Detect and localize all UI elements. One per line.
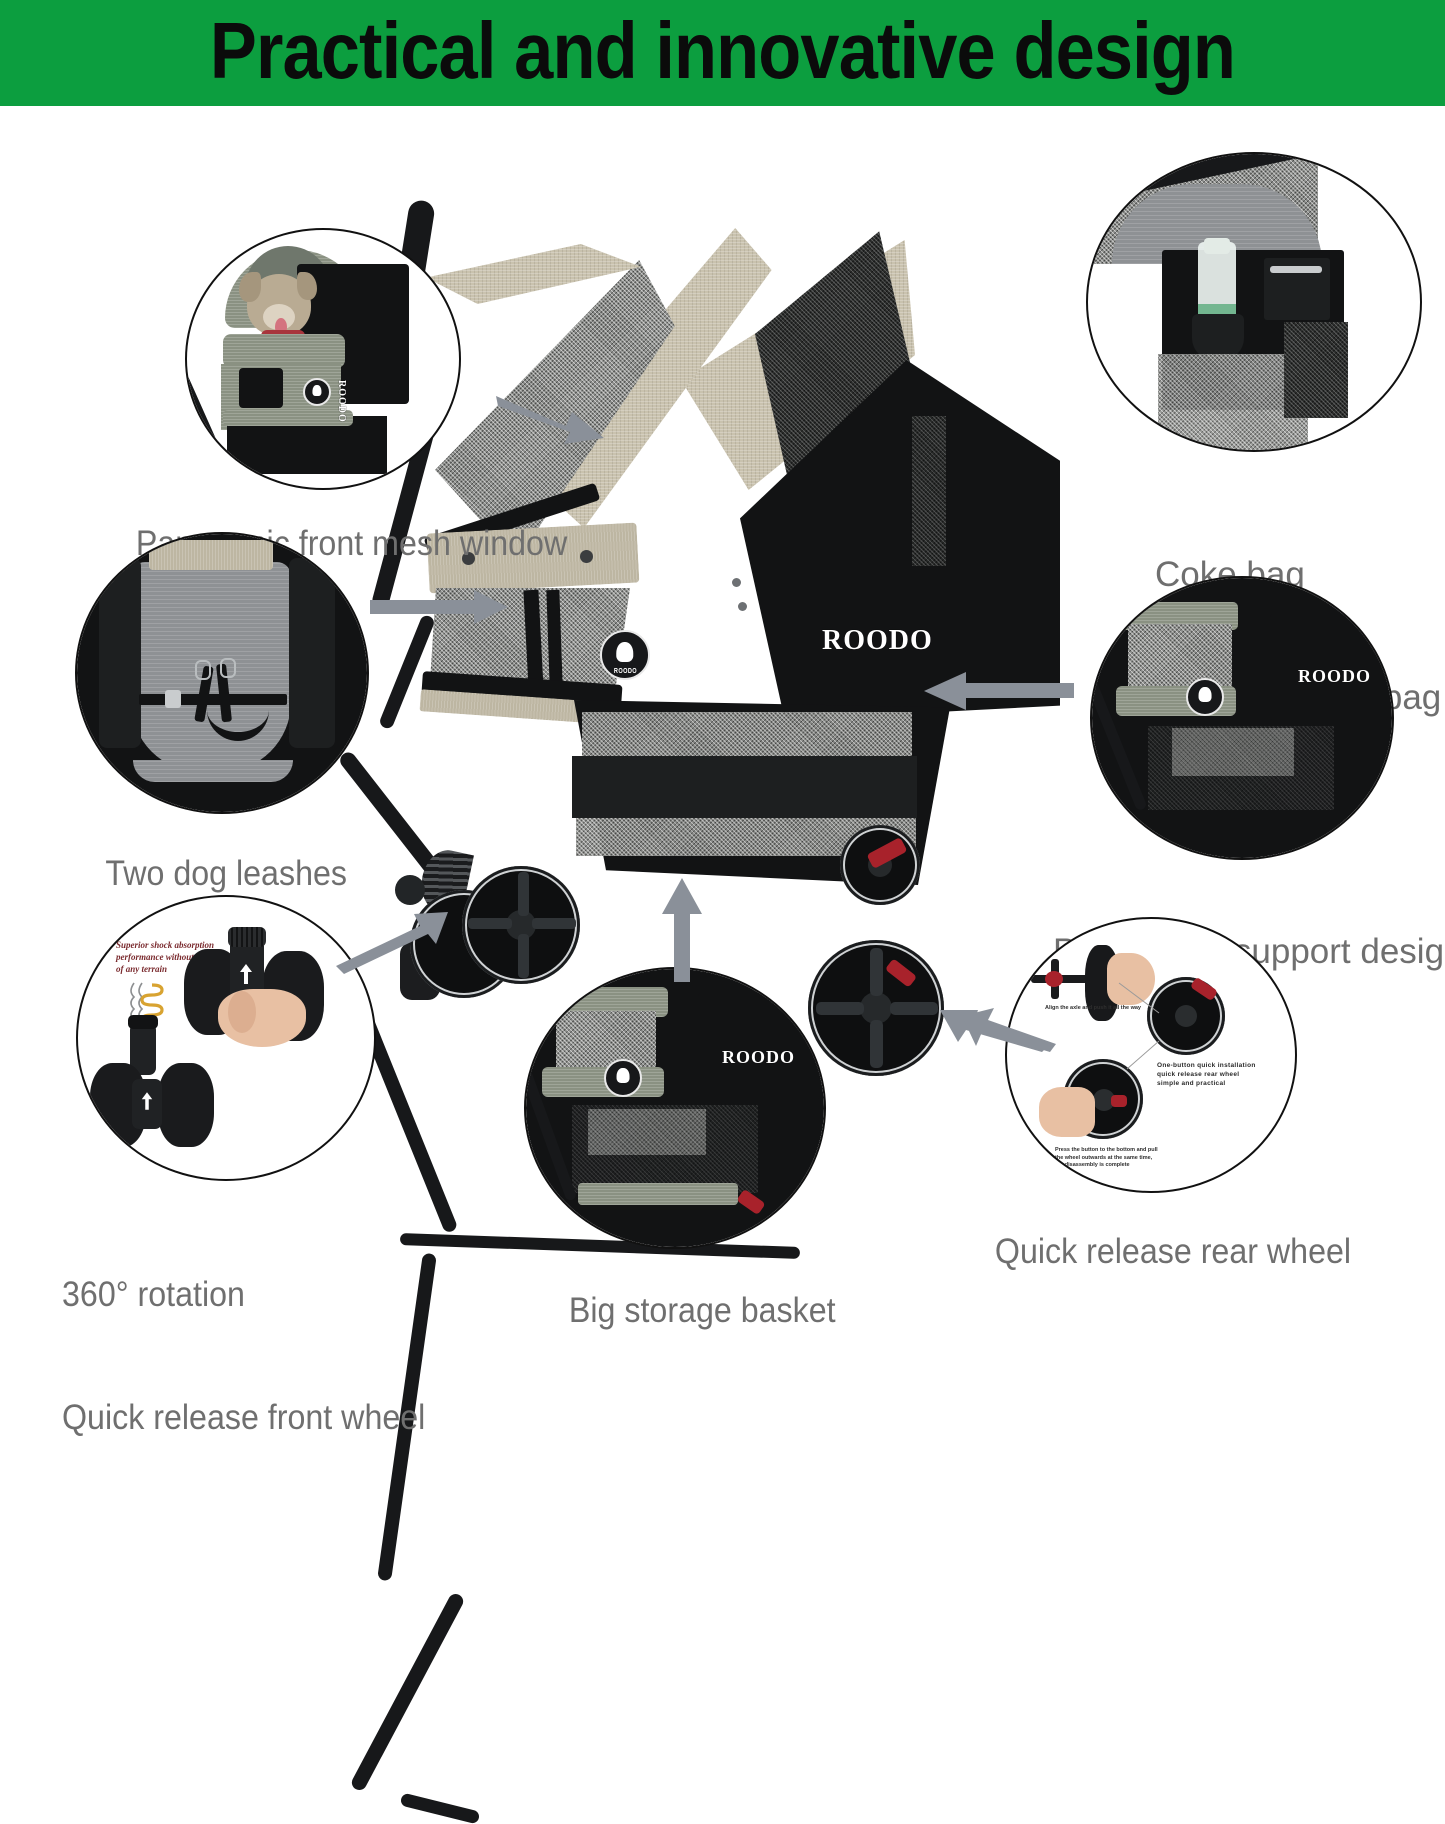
inset-quick-release-front-wheel: Superior shock absorption performance wi… bbox=[76, 895, 376, 1181]
arrow-leashes-to-product bbox=[370, 588, 510, 628]
arrow-parallel-to-product bbox=[922, 670, 1074, 712]
inset5-thumb-right bbox=[228, 991, 256, 1033]
caption-front-wheel-line2: Quick release front wheel bbox=[62, 1397, 425, 1438]
inset6-seat-lip bbox=[542, 1067, 664, 1097]
inset2-bottle-cap bbox=[1204, 238, 1230, 254]
front-wheel-spoke-d bbox=[532, 918, 576, 929]
inset6-side-mesh bbox=[556, 1011, 656, 1075]
arrow-front-wheel-inset-out bbox=[342, 914, 446, 976]
inset1-dog-ear-left bbox=[239, 272, 261, 302]
cabin-side-vent bbox=[912, 416, 946, 566]
inset4-brand-text: ROODO bbox=[1298, 666, 1371, 687]
caption-quick-release-front-wheel: 360° rotation Quick release front wheel bbox=[62, 1192, 425, 1479]
inset3-strap-buckle bbox=[165, 690, 181, 708]
inset1-brand-text: ROODO bbox=[336, 380, 347, 423]
inset5-arrow-up-icon-2 bbox=[140, 1091, 154, 1111]
inset7-callout-lines bbox=[1007, 919, 1295, 1191]
dog-silhouette-icon bbox=[1199, 687, 1212, 702]
basket-band bbox=[572, 756, 917, 818]
arrow-panoramic-to-product bbox=[496, 386, 606, 452]
inset6-basket-floor bbox=[578, 1183, 738, 1205]
inset1-basket-top bbox=[223, 410, 353, 426]
caption-big-storage-basket: Big storage basket bbox=[551, 1249, 836, 1331]
inset1-front-rail bbox=[223, 334, 345, 368]
inset-panoramic-front-mesh-window: ROODO bbox=[185, 228, 461, 490]
dog-silhouette-icon bbox=[312, 385, 321, 396]
inset3-canopy-edge bbox=[149, 540, 273, 570]
arrow-basket-to-product bbox=[660, 878, 704, 984]
front-wheel-spoke-c bbox=[468, 918, 512, 929]
inset6-brand-badge bbox=[604, 1059, 642, 1097]
arrow-rear-wheel-inset-pointer bbox=[962, 1004, 1058, 1052]
brand-text-side: ROODO bbox=[822, 625, 933, 657]
inset6-brand-text: ROODO bbox=[722, 1047, 795, 1068]
inset3-side-wall-right bbox=[289, 558, 335, 748]
frame-rivet-2 bbox=[738, 602, 747, 611]
dog-silhouette-icon bbox=[616, 642, 633, 662]
brand-badge-label: ROODO bbox=[613, 668, 636, 675]
inset3-side-wall-left bbox=[99, 558, 141, 748]
brand-badge: ROODO bbox=[600, 630, 650, 680]
inset-big-storage-basket: ROODO bbox=[524, 967, 826, 1249]
inset3-leash-clip-1 bbox=[195, 660, 211, 680]
front-wheel-hub bbox=[395, 875, 425, 905]
inset5-arrow-up-icon bbox=[238, 963, 254, 985]
rear-wheel-spoke-1 bbox=[870, 948, 883, 996]
inset2-side-mesh bbox=[1284, 322, 1348, 418]
rear-wheel-spoke-2 bbox=[870, 1020, 883, 1068]
caption-two-dog-leashes: Two dog leashes bbox=[88, 812, 347, 894]
inset-two-dog-leashes bbox=[75, 532, 369, 814]
basket-mesh-upper bbox=[582, 712, 912, 756]
inset6-rear-panel bbox=[698, 993, 820, 1099]
dog-silhouette-icon bbox=[617, 1068, 630, 1083]
frame-rivet-1 bbox=[732, 578, 741, 587]
inset6-basket-dark bbox=[572, 1105, 758, 1193]
inset3-leash-clip-2 bbox=[220, 658, 236, 678]
arrow-coke-bag-pointer bbox=[1020, 268, 1110, 316]
front-band-snap-right bbox=[580, 550, 593, 563]
header-banner: Practical and innovative design bbox=[0, 0, 1445, 106]
inset3-strap-horizontal bbox=[139, 694, 287, 705]
inset1-handle bbox=[187, 233, 222, 327]
inset5-axle-exploded-top bbox=[128, 1015, 158, 1029]
inset4-basket-dark bbox=[1148, 726, 1334, 810]
rear-wheel-spoke-4 bbox=[890, 1002, 938, 1015]
inset1-frame-diag bbox=[187, 334, 222, 456]
inset1-front-window bbox=[239, 368, 283, 408]
inset5-wheel-left-b bbox=[158, 1063, 214, 1147]
inset5-axle-top-right bbox=[228, 927, 266, 947]
inset1-brand-badge bbox=[303, 378, 331, 406]
handle-grip-hole bbox=[984, 222, 996, 252]
inset3-floor-lip bbox=[133, 760, 293, 782]
front-leg bbox=[349, 1591, 466, 1792]
page-title: Practical and innovative design bbox=[210, 11, 1235, 91]
inset4-brand-badge bbox=[1186, 678, 1224, 716]
inset2-bag-zip bbox=[1270, 266, 1322, 273]
inset-quick-release-rear-wheel: Align the axle and push it all the way O… bbox=[1005, 917, 1297, 1193]
front-wheel-spoke-a bbox=[518, 872, 529, 916]
inset-parallel-full-support: ROODO bbox=[1090, 576, 1394, 860]
caption-quick-release-rear-wheel: Quick release rear wheel bbox=[977, 1190, 1351, 1272]
caption-front-wheel-line1: 360° rotation bbox=[62, 1274, 425, 1315]
front-axle-arm bbox=[400, 1793, 481, 1824]
inset-coke-bag bbox=[1086, 152, 1422, 452]
